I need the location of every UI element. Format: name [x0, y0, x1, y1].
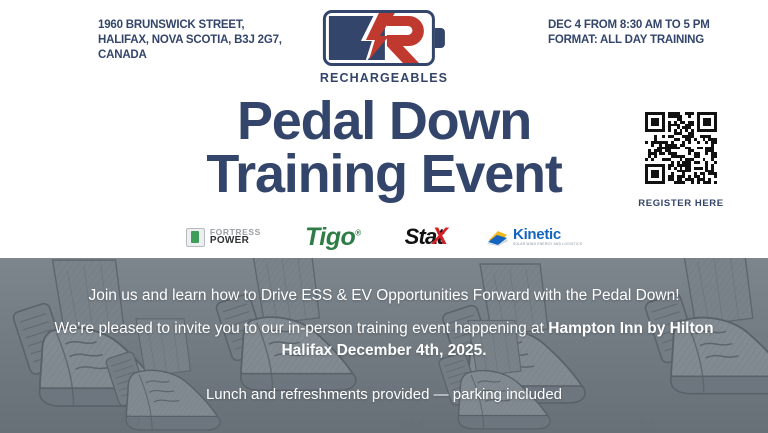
partner-logo-statx: Stat X [405, 224, 443, 250]
partner-logo-kinetic: Kinetic SOLAR WIND ENERGY AND LOGISTICS [487, 224, 582, 250]
lightning-r-mark [323, 10, 435, 66]
battery-terminal [435, 28, 445, 48]
kinetic-text: Kinetic [513, 227, 582, 242]
tigo-text: Tigo [305, 223, 355, 251]
fortress-battery-icon [186, 228, 205, 247]
event-datetime: DEC 4 FROM 8:30 AM TO 5 PM FORMAT: ALL D… [548, 18, 723, 48]
kinetic-tagline: SOLAR WIND ENERGY AND LOGISTICS [513, 243, 582, 246]
kinetic-diamond-icon [487, 229, 509, 246]
body-paragraph-1: Join us and learn how to Drive ESS & EV … [88, 285, 679, 307]
event-poster: 1960 BRUNSWICK STREET, HALIFAX, NOVA SCO… [0, 0, 768, 433]
body-paragraph-3: Lunch and refreshments provided — parkin… [206, 384, 562, 405]
battery-lightning-r-icon [323, 10, 445, 66]
band-text: Join us and learn how to Drive ESS & EV … [0, 258, 768, 433]
top-section: 1960 BRUNSWICK STREET, HALIFAX, NOVA SCO… [0, 0, 768, 258]
rechargeables-logo: RECHARGEABLES [320, 10, 448, 85]
tigo-wordmark: Tigo® [305, 223, 361, 252]
partner-logos: FORTRESS POWER Tigo® Stat X [0, 224, 768, 250]
statx-x-mark: X [432, 223, 448, 251]
register-qr-block[interactable]: REGISTER HERE [627, 112, 735, 209]
logo-wordmark: RECHARGEABLES [320, 71, 448, 85]
bottom-message-band: Join us and learn how to Drive ESS & EV … [0, 258, 768, 433]
body-paragraph-2-prefix: We're pleased to invite you to our in-pe… [54, 320, 548, 337]
venue-address: 1960 BRUNSWICK STREET, HALIFAX, NOVA SCO… [98, 18, 283, 64]
register-here-label: REGISTER HERE [638, 198, 723, 209]
tigo-registered-mark: ® [355, 228, 360, 237]
fortress-line-2: POWER [210, 236, 261, 246]
partner-logo-fortress-power: FORTRESS POWER [186, 224, 261, 250]
partner-logo-tigo: Tigo® [305, 224, 361, 250]
body-paragraph-2: We're pleased to invite you to our in-pe… [42, 318, 726, 362]
qr-code-icon[interactable] [645, 112, 717, 184]
